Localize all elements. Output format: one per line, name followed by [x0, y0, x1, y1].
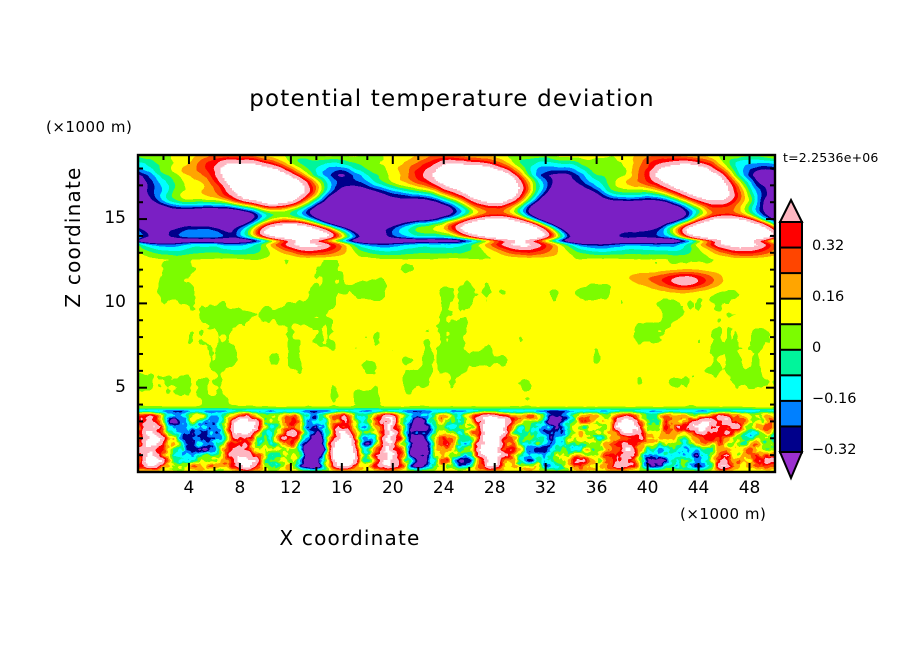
x-tick-label: 20: [373, 478, 413, 498]
x-tick-label: 32: [526, 478, 566, 498]
x-tick-label: 44: [679, 478, 719, 498]
colorbar-band: [780, 375, 802, 401]
colorbar-tick-label: 0.16: [812, 289, 844, 305]
x-tick-label: 4: [169, 478, 209, 498]
y-tick-label: 5: [86, 377, 126, 397]
colorbar-band: [780, 350, 802, 376]
x-tick-label: 8: [220, 478, 260, 498]
contour-plot-figure: [0, 0, 904, 654]
x-tick-label: 28: [475, 478, 515, 498]
x-tick-label: 36: [577, 478, 617, 498]
x-tick-label: 24: [424, 478, 464, 498]
colorbar-tick-label: 0.32: [812, 238, 844, 254]
y-tick-label: 10: [86, 292, 126, 312]
colorbar-band: [780, 324, 802, 350]
contour-field: [138, 155, 775, 472]
colorbar-band: [780, 299, 802, 325]
colorbar-overflow-arrow-top: [780, 200, 802, 222]
x-tick-label: 16: [322, 478, 362, 498]
colorbar-band: [780, 222, 802, 248]
colorbar: [780, 200, 802, 478]
x-tick-label: 48: [730, 478, 770, 498]
y-tick-label: 15: [86, 208, 126, 228]
colorbar-tick-label: −0.16: [812, 391, 856, 407]
x-tick-label: 40: [628, 478, 668, 498]
colorbar-tick-label: −0.32: [812, 442, 856, 458]
colorbar-tick-label: 0: [812, 340, 821, 356]
colorbar-band: [780, 426, 802, 452]
x-tick-label: 12: [271, 478, 311, 498]
colorbar-band: [780, 401, 802, 427]
colorbar-band: [780, 273, 802, 299]
colorbar-overflow-arrow-bottom: [780, 452, 802, 478]
colorbar-band: [780, 248, 802, 274]
